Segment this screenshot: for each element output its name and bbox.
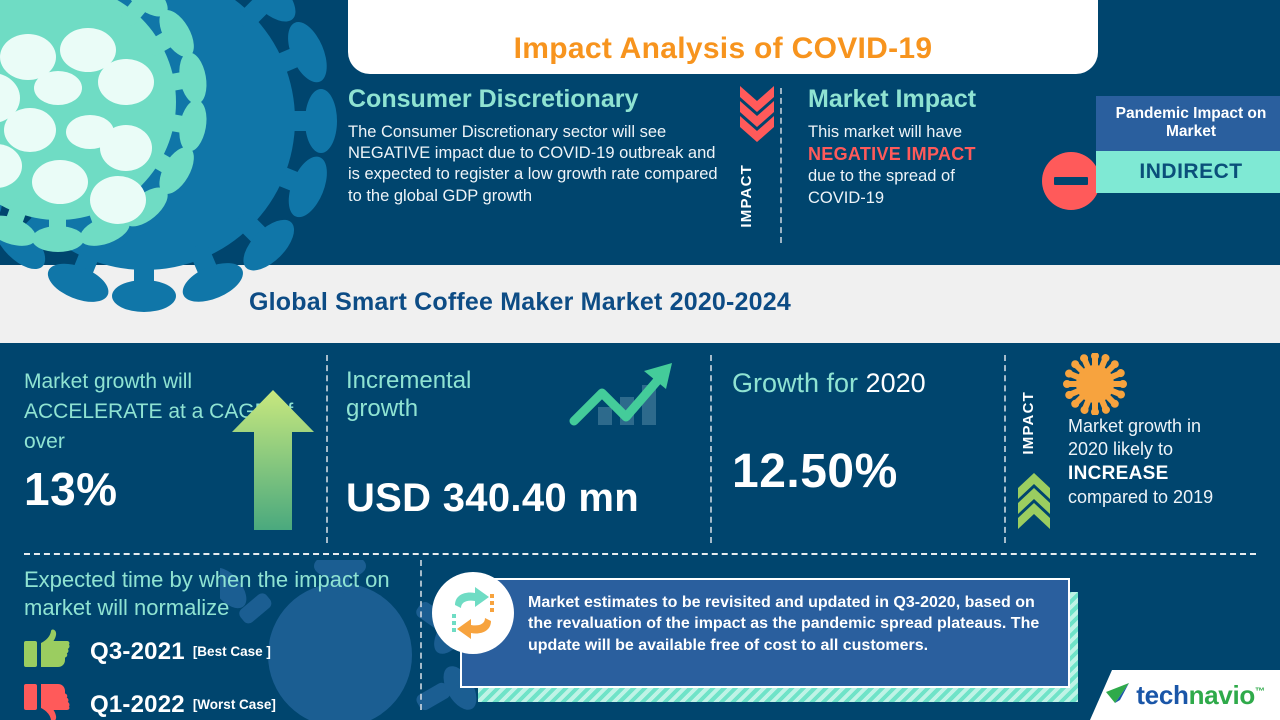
market-impact-block: Market Impact This market will have NEGA… [808, 86, 1078, 209]
top-divider-dashed [780, 88, 782, 243]
thumbs-up-icon [24, 629, 70, 674]
bottom-divider-dashed [24, 553, 1256, 555]
growth-2020-value: 12.50% [732, 444, 1002, 499]
virus-icon [1062, 353, 1128, 420]
logo-text-part1: tech [1136, 680, 1188, 710]
consumer-discretionary-body: The Consumer Discretionary sector will s… [348, 122, 720, 208]
incremental-growth-block: Incremental growth USD 340.40 mn [346, 367, 676, 521]
impact-2020-line1: Market growth in [1068, 415, 1278, 438]
technavio-arrow-icon [1105, 681, 1131, 710]
pandemic-impact-box: Pandemic Impact on Market INDIRECT [1096, 96, 1280, 193]
growth-lead-year: 2020 [866, 368, 926, 398]
impact-2020-line3: compared to 2019 [1068, 486, 1278, 509]
covid-virus-illustration [0, 0, 350, 340]
growth-lead-mint: Growth for [732, 368, 866, 398]
pandemic-impact-heading: Pandemic Impact on Market [1096, 96, 1280, 151]
stats-row: Market growth will ACCELERATE at a CAGR … [0, 345, 1280, 553]
impact-2020-line2: 2020 likely to [1068, 438, 1278, 461]
market-impact-line1: This market will have [808, 122, 1078, 143]
note-card: Market estimates to be revisited and upd… [460, 578, 1070, 688]
growth-2020-block: Growth for 2020 12.50% [732, 367, 1002, 499]
chevron-down-icon [740, 86, 774, 149]
minus-bar [1054, 177, 1088, 185]
best-case-label: Q3-2021 [90, 638, 185, 666]
market-impact-heading: Market Impact [808, 86, 1078, 114]
impact-2020-block: IMPACT Market growth in 2020 likely to I… [1020, 353, 1278, 543]
logo-text-part2: navio [1189, 680, 1255, 710]
worst-case-sub: [Worst Case] [193, 697, 276, 712]
top-info-row: Consumer Discretionary The Consumer Disc… [348, 86, 1280, 261]
infographic-root: Global Smart Coffee Maker Market 2020-20… [0, 0, 1280, 720]
normalize-block: Expected time by when the impact on mark… [24, 566, 419, 720]
stats-divider-1 [326, 355, 328, 543]
trend-chart-icon [568, 359, 678, 436]
impact-label-top: IMPACT [738, 164, 755, 228]
thumbs-down-icon [24, 682, 70, 720]
incremental-value: USD 340.40 mn [346, 476, 676, 521]
consumer-discretionary-heading: Consumer Discretionary [348, 86, 720, 114]
logo-trademark: ™ [1255, 686, 1265, 697]
worst-case-label: Q1-2022 [90, 691, 185, 719]
normalize-heading: Expected time by when the impact on mark… [24, 566, 419, 621]
refresh-cycle-icon [432, 572, 514, 654]
technavio-logo[interactable]: technavio™ [1090, 670, 1280, 720]
best-case-row: Q3-2021 [Best Case ] [24, 629, 419, 674]
impact-indicator-top: IMPACT [730, 86, 782, 246]
impact-label-bottom: IMPACT [1020, 391, 1037, 455]
worst-case-row: Q1-2022 [Worst Case] [24, 682, 419, 720]
impact-2020-highlight: INCREASE [1068, 462, 1278, 487]
market-impact-highlight: NEGATIVE IMPACT [808, 143, 1078, 166]
bottom-divider-vertical [420, 560, 422, 710]
stats-divider-2 [710, 355, 712, 543]
arrow-up-icon [232, 390, 314, 535]
best-case-sub: [Best Case ] [193, 644, 271, 659]
pandemic-impact-value: INDIRECT [1096, 151, 1280, 193]
header-title-pill: Impact Analysis of COVID-19 [348, 0, 1098, 74]
consumer-discretionary-block: Consumer Discretionary The Consumer Disc… [348, 86, 720, 207]
market-impact-line3: COVID-19 [808, 188, 1078, 209]
note-text: Market estimates to be revisited and upd… [528, 592, 1052, 656]
market-impact-line2: due to the spread of [808, 166, 1078, 187]
page-title: Impact Analysis of COVID-19 [514, 32, 933, 66]
minus-circle-icon [1042, 152, 1100, 210]
chevron-up-icon [1018, 473, 1050, 534]
stats-divider-3 [1004, 355, 1006, 543]
